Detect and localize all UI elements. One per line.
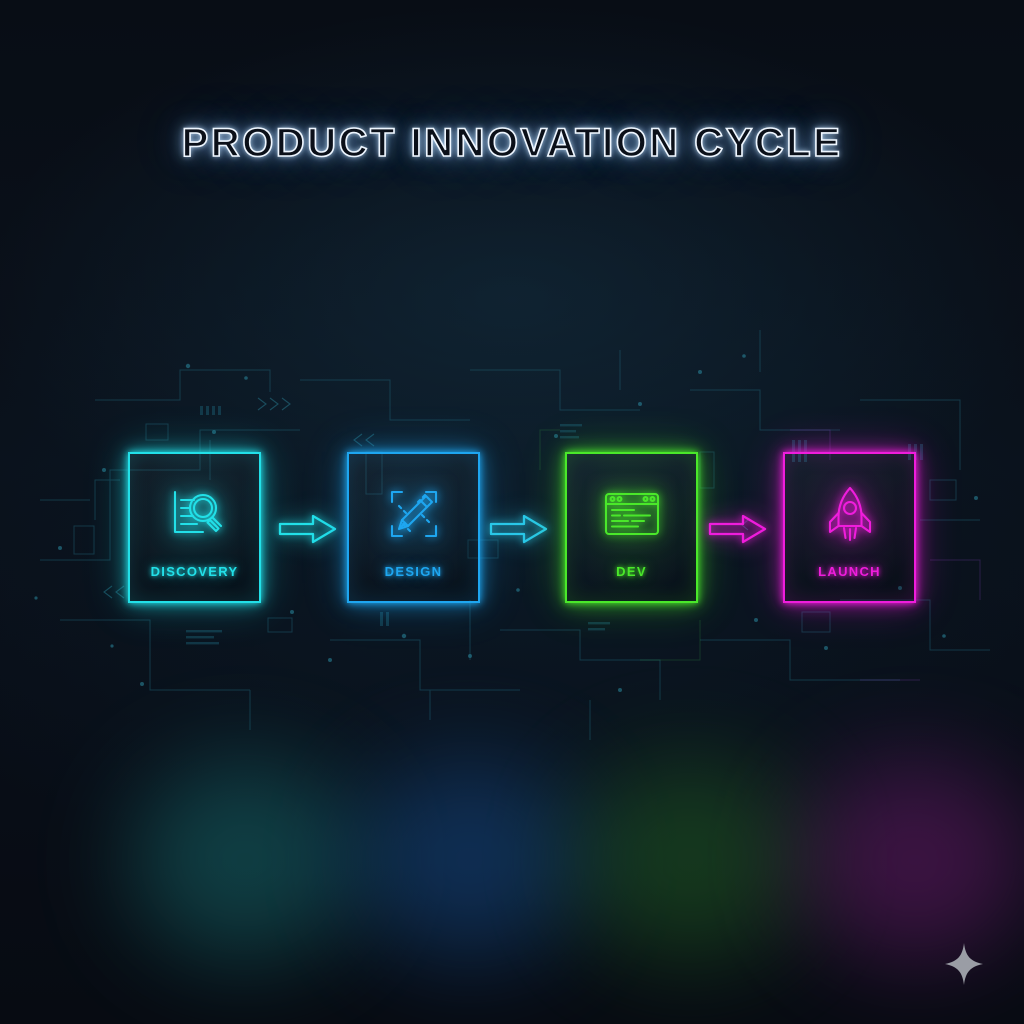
code-window-icon [600,482,664,546]
glow-launch [800,760,1024,960]
arrow-dev-launch [707,512,769,546]
step-label-discovery: DISCOVERY [151,564,239,579]
glow-dev [575,760,805,960]
glow-discovery [130,760,360,960]
rocket-icon [818,482,882,546]
process-flow: DISCOVERY [0,452,1024,607]
glow-design [355,760,585,960]
arrow-discovery-design [277,512,339,546]
sparkle-star-icon [944,942,984,986]
magnifier-chart-icon [163,482,227,546]
pencil-artboard-icon [382,482,446,546]
step-card-design[interactable]: DESIGN [347,452,480,603]
step-label-dev: DEV [616,564,647,579]
step-card-launch[interactable]: LAUNCH [783,452,916,603]
poster-canvas: PRODUCT INNOVATION CYCLE DISCOVERY [0,0,1024,1024]
bottom-glow-band [0,760,1024,990]
step-label-design: DESIGN [385,564,443,579]
step-card-discovery[interactable]: DISCOVERY [128,452,261,603]
step-card-dev[interactable]: DEV [565,452,698,603]
step-label-launch: LAUNCH [818,564,881,579]
title-container: PRODUCT INNOVATION CYCLE [0,121,1024,166]
page-title: PRODUCT INNOVATION CYCLE [182,121,843,166]
arrow-design-dev [488,512,550,546]
